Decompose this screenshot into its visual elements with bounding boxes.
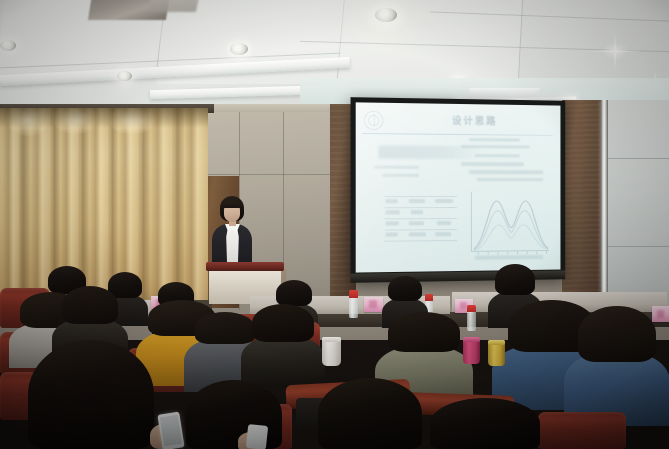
metal-trim-strip bbox=[601, 100, 608, 318]
slide-title: 设计思路 bbox=[415, 112, 534, 127]
slide-table bbox=[384, 196, 457, 249]
bottle-cap bbox=[349, 290, 358, 298]
ceiling-downlight bbox=[230, 43, 248, 55]
name-placard bbox=[364, 297, 383, 312]
bottle-cap bbox=[425, 294, 433, 301]
right-wall-panels bbox=[608, 100, 669, 315]
slide-chart-caption bbox=[475, 255, 543, 260]
projection-screen-surface: 设计思路 bbox=[356, 102, 561, 272]
slide-chart bbox=[471, 192, 549, 252]
pink-cup[interactable] bbox=[463, 337, 480, 364]
ceiling-downlight bbox=[117, 71, 132, 81]
presentation-slide: 设计思路 bbox=[356, 102, 561, 272]
lecture-hall-photo: 设计思路 bbox=[0, 0, 669, 449]
white-coffee-cup[interactable] bbox=[322, 337, 341, 366]
audience-member bbox=[252, 304, 314, 388]
light-flare bbox=[602, 42, 628, 60]
audience-member-foreground-far-right bbox=[430, 398, 540, 449]
presenter-hair-fringe bbox=[223, 201, 241, 208]
audience-member-foreground-left bbox=[28, 340, 154, 449]
wood-column-right bbox=[562, 100, 603, 322]
bottle-cap bbox=[467, 305, 476, 312]
university-crest-icon bbox=[364, 111, 383, 131]
water-bottle bbox=[349, 290, 358, 318]
audience-member-foreground-center bbox=[186, 380, 282, 449]
presenter-shirt bbox=[225, 225, 240, 265]
yellow-cup[interactable] bbox=[488, 340, 505, 366]
smartphone[interactable] bbox=[246, 424, 268, 449]
ceiling-downlight bbox=[0, 40, 16, 51]
projection-screen[interactable]: 设计思路 bbox=[351, 97, 566, 283]
audience-member bbox=[578, 306, 656, 426]
auditorium-seat[interactable] bbox=[538, 412, 626, 449]
lectern-top bbox=[206, 262, 284, 271]
curtain-top-shadow bbox=[0, 108, 208, 128]
ceiling-downlight bbox=[375, 8, 397, 22]
water-bottle bbox=[467, 305, 476, 331]
audience-member-foreground-right bbox=[318, 378, 422, 449]
damaged-ceiling-tile-secondary bbox=[148, 0, 200, 12]
smartphone[interactable] bbox=[157, 412, 184, 449]
slide-divider bbox=[362, 133, 553, 136]
